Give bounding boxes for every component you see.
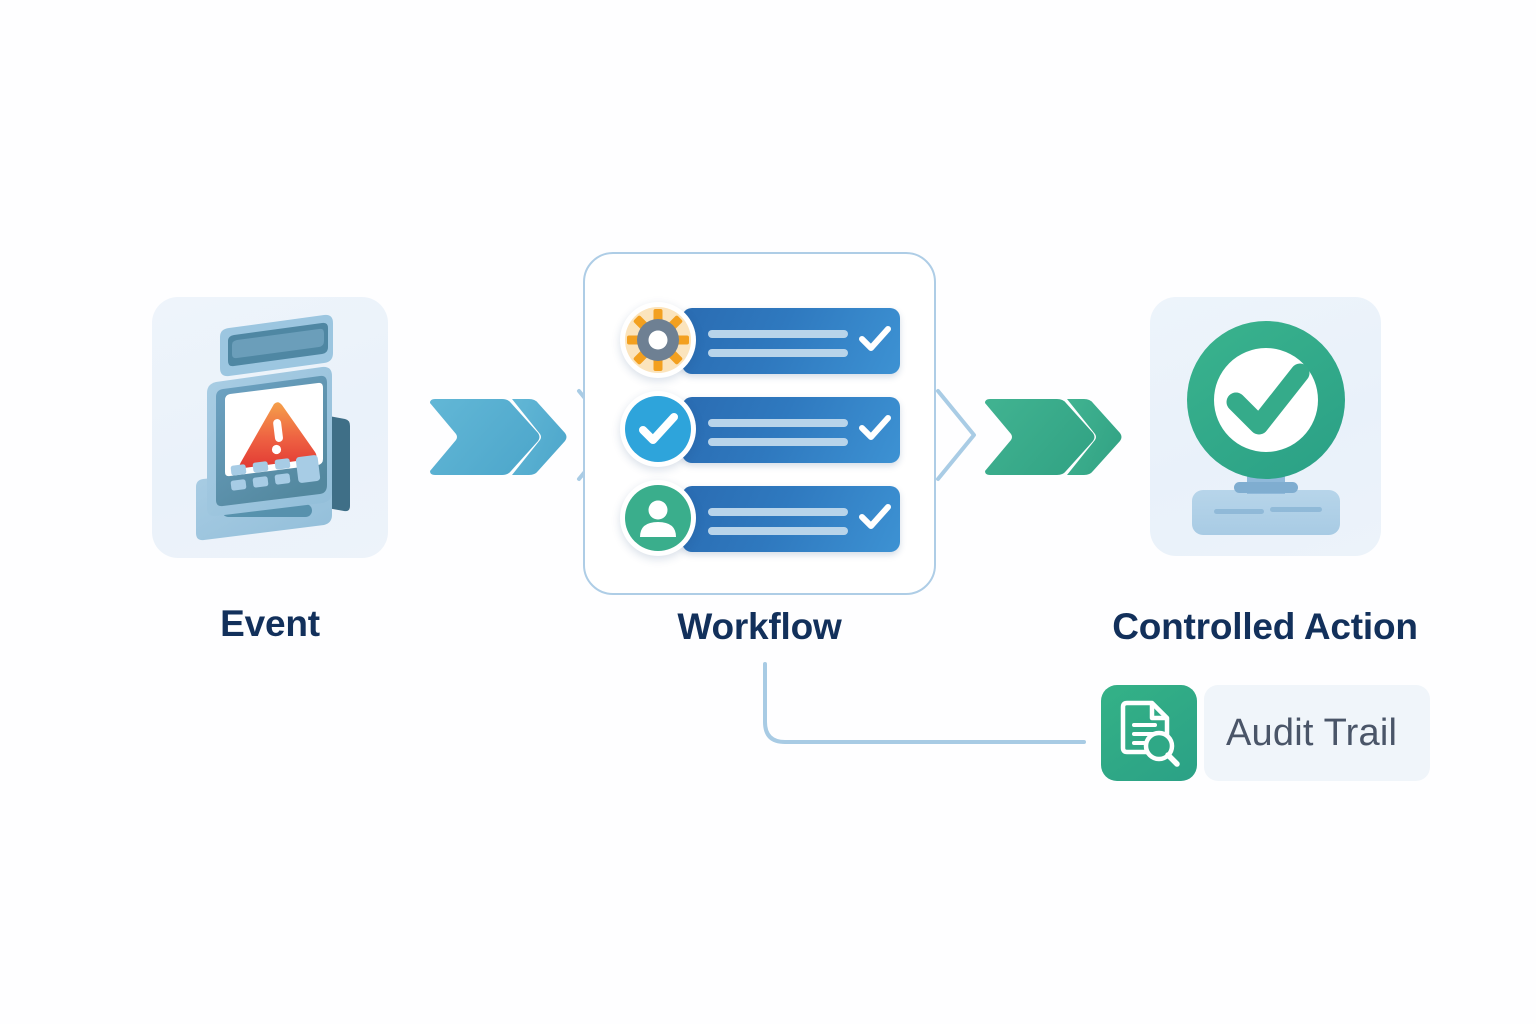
arrow-workflow-to-action [983,397,1123,477]
page-title-controlled-action: Controlled Action [1085,606,1445,648]
workflow-row-badge [620,480,696,556]
workflow-row-badge [620,302,696,378]
arrow-event-to-workflow [428,397,568,477]
workflow-row-approve[interactable] [620,480,900,556]
workflow-row-line-1 [708,330,848,338]
chevron-guide-right-icon [932,385,982,485]
gear-icon [625,307,691,373]
workflow-row-badge [620,391,696,467]
workflow-row-line-2 [708,349,848,357]
workflow-row-line-2 [708,527,848,535]
check-icon [858,413,892,443]
check-icon [858,324,892,354]
workflow-row-validate[interactable] [620,391,900,467]
audit-trail-icon-tile[interactable] [1101,685,1197,781]
connector-workflow-to-audit [752,660,1092,760]
workflow-row-line-1 [708,419,848,427]
document-search-icon [1119,701,1179,765]
workflow-row-line-2 [708,438,848,446]
diagram-canvas: Event [0,0,1536,1024]
audit-trail-label: Audit Trail [1226,685,1426,781]
page-title-event: Event [152,603,388,645]
check-circle-icon [625,396,691,462]
approved-check-stamp-icon [1150,297,1381,556]
workflow-row-line-1 [708,508,848,516]
check-icon [858,502,892,532]
workflow-row-configure[interactable] [620,302,900,378]
page-title-workflow: Workflow [583,606,936,648]
pos-terminal-alert-icon [152,297,388,558]
person-icon [625,485,691,551]
